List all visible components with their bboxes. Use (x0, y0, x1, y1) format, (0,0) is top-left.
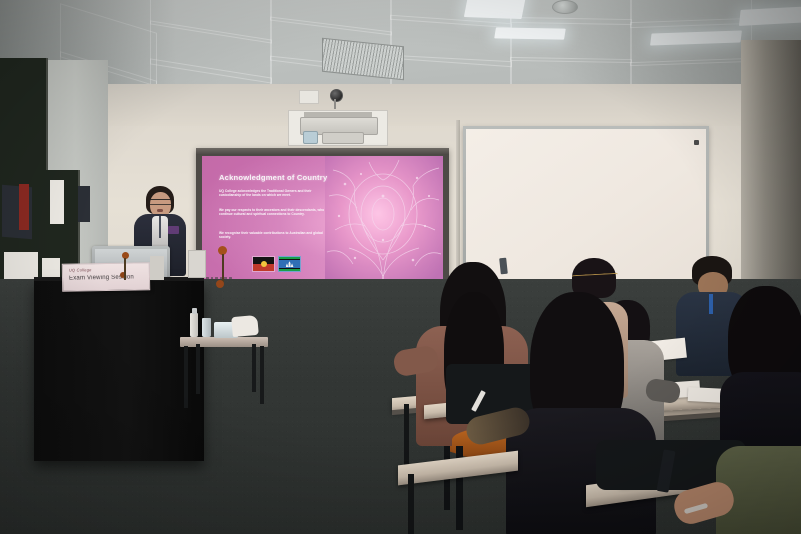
aboriginal-flag-icon (252, 256, 275, 272)
poster-2 (19, 184, 29, 230)
presenter-logo-icon (168, 226, 179, 234)
ceiling-shading (0, 0, 801, 96)
camera-stem (334, 99, 336, 109)
presenter-glasses-icon (150, 199, 171, 205)
lectern-sign: UQ College Exam Viewing Session (62, 262, 150, 292)
student-back-right-lanyard (709, 294, 713, 314)
classroom-scene: Acknowledgment of Country UQ College ack… (0, 0, 801, 534)
slide-paragraph-1: UQ College acknowledges the Traditional … (219, 189, 325, 198)
projector-base (322, 132, 364, 144)
presenter-lanyard (159, 216, 161, 238)
poster-7 (78, 186, 90, 222)
equipment-box-2 (150, 256, 164, 280)
camera-icon (330, 89, 343, 102)
projector-wall-plate (299, 90, 319, 104)
projection-screen: Acknowledgment of Country UQ College ack… (196, 148, 449, 298)
side-table-leg-4 (252, 344, 256, 392)
presenter-mouth (157, 209, 163, 212)
side-table-leg-3 (196, 344, 200, 394)
flower-stem (124, 258, 126, 280)
lectern (34, 281, 204, 461)
flower-stem-2 (222, 254, 224, 282)
student-foreground-right (700, 440, 801, 534)
lectern-sign-logo: UQ College (69, 267, 92, 272)
sanitiser-pump-icon[interactable] (192, 308, 197, 314)
slide-title: Acknowledgment of Country (219, 173, 327, 182)
equipment-box (188, 250, 206, 278)
side-table-leg-2 (260, 346, 264, 404)
desk-foreground-left-leg (408, 474, 414, 534)
poster-3 (50, 180, 64, 224)
screen-top-bar (196, 148, 449, 155)
back-wall-upper (100, 84, 760, 126)
tissue-icon (231, 315, 259, 337)
sanitiser-bottle-icon[interactable] (190, 313, 198, 337)
flags-group (252, 256, 301, 272)
slide-paragraph-3: We recognise their valuable contribution… (219, 231, 325, 240)
torres-strait-islander-flag-icon (278, 256, 301, 272)
side-table-leg-1 (184, 346, 188, 408)
slide: Acknowledgment of Country UQ College ack… (202, 156, 443, 283)
slide-paragraph-2: We pay our respects to their ancestors a… (219, 208, 325, 217)
projector-lens-icon (303, 131, 318, 144)
flower-icon-4 (216, 280, 224, 288)
magnet-icon[interactable] (694, 140, 699, 145)
spray-bottle-icon[interactable] (202, 318, 211, 337)
